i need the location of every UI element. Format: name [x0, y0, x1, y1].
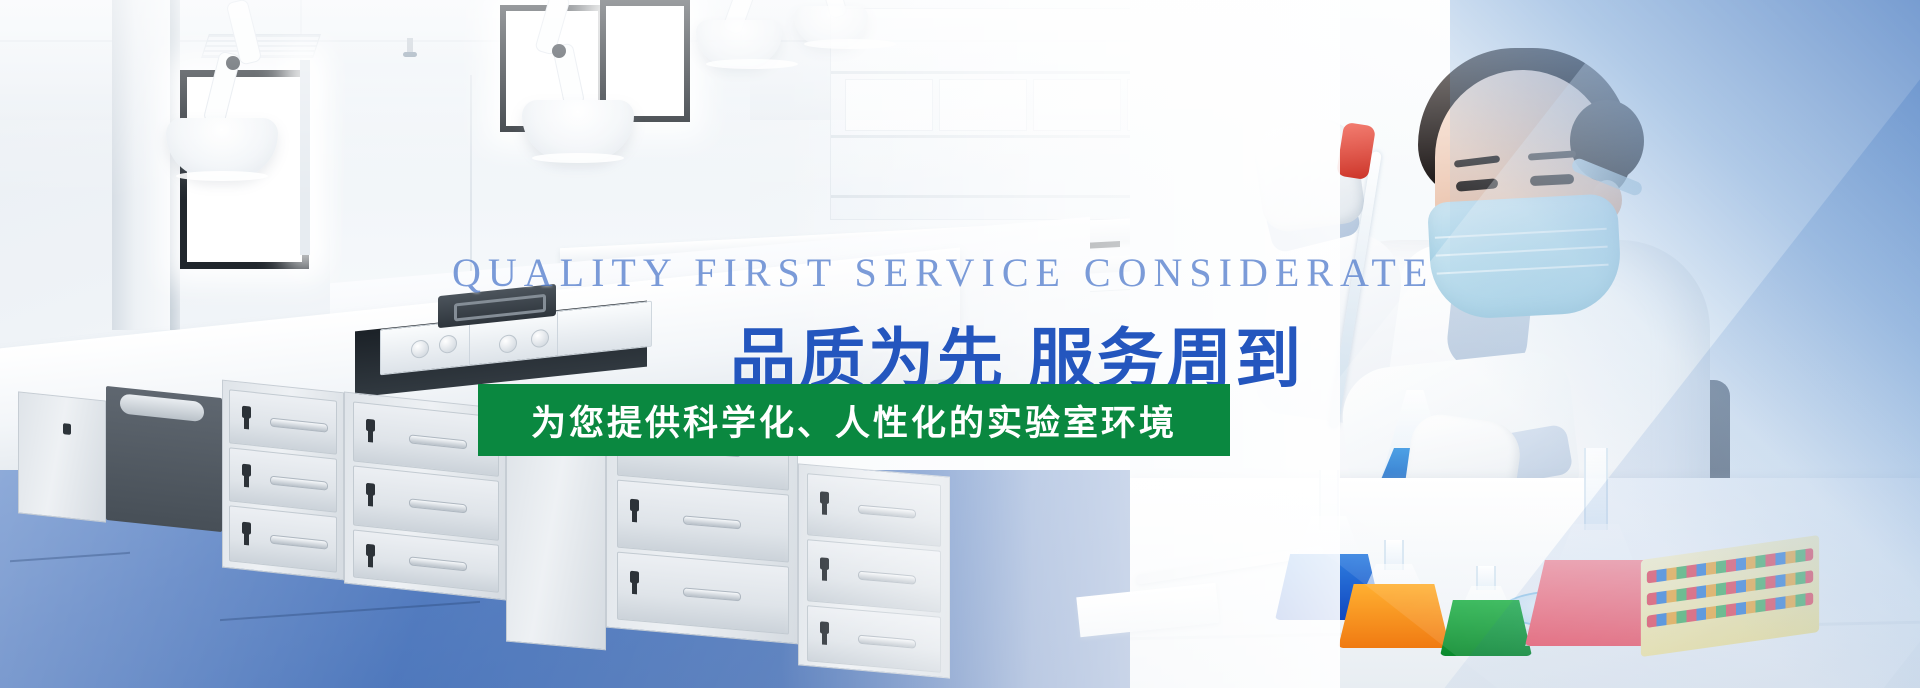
outlet-divider	[557, 312, 558, 356]
outlet-knob[interactable]	[531, 329, 549, 349]
lamp-joint	[552, 44, 566, 58]
drawer[interactable]	[229, 447, 337, 512]
drawer-handle[interactable]	[409, 434, 467, 449]
drawer-cabinet	[798, 463, 950, 678]
lamp-joint	[226, 56, 240, 70]
hero-banner: QUALITY FIRST SERVICE CONSIDERATE 品质为先服务…	[0, 0, 1920, 688]
drawer-lock-icon	[820, 491, 829, 504]
shelf-cell	[845, 79, 933, 131]
drawer-lock-icon	[630, 499, 639, 512]
drawer[interactable]	[229, 505, 337, 572]
drawer[interactable]	[353, 465, 499, 540]
waste-bin	[106, 386, 222, 532]
drawer[interactable]	[617, 552, 789, 635]
flask-liquid	[1440, 600, 1532, 656]
drawer-handle[interactable]	[858, 571, 916, 585]
drawer-handle[interactable]	[858, 505, 916, 519]
drawer[interactable]	[807, 605, 941, 673]
drawer-handle[interactable]	[858, 634, 916, 648]
outlet-knob[interactable]	[499, 334, 517, 354]
drawer-lock-icon	[366, 419, 375, 432]
subtitle-bar: 为您提供科学化、人性化的实验室环境	[478, 384, 1230, 456]
flask-liquid	[1338, 584, 1450, 648]
erlenmeyer-flask-green	[1440, 566, 1532, 656]
outlet-knob[interactable]	[439, 334, 457, 354]
drawer-cabinet	[222, 380, 344, 581]
drawer-lock-icon	[630, 571, 639, 584]
cabinet-panel	[506, 428, 606, 651]
erlenmeyer-flask-orange	[1338, 540, 1450, 648]
surgical-mask	[1427, 193, 1623, 321]
drawer-lock-icon	[242, 463, 251, 476]
drawer[interactable]	[229, 389, 337, 454]
drawer-lock-icon	[366, 483, 375, 496]
drawer-lock-icon	[820, 557, 829, 570]
mask-pleat	[1435, 228, 1607, 239]
mask-pleat	[1436, 246, 1608, 257]
drawer-handle[interactable]	[409, 557, 467, 572]
shelf-cell	[1033, 79, 1121, 131]
drawer[interactable]	[353, 529, 499, 592]
drawer-handle[interactable]	[409, 498, 467, 513]
drawer[interactable]	[807, 473, 941, 547]
structural-column	[112, 0, 170, 330]
cabinet-lock-icon	[63, 423, 71, 435]
drawer-handle[interactable]	[270, 534, 328, 549]
shelf-cell	[939, 79, 1027, 131]
flask-neck	[1584, 448, 1608, 530]
drawer-handle[interactable]	[683, 515, 741, 529]
lamp-shade	[696, 20, 782, 66]
drawer-lock-icon	[820, 621, 829, 634]
sprinkler-head	[407, 38, 413, 54]
cabinet-end	[18, 391, 106, 522]
english-tagline: QUALITY FIRST SERVICE CONSIDERATE	[452, 249, 1434, 296]
drawer-lock-icon	[366, 544, 375, 557]
drawer-handle[interactable]	[270, 418, 328, 433]
drawer[interactable]	[617, 480, 789, 563]
drawer[interactable]	[807, 539, 941, 613]
drawer-handle[interactable]	[683, 587, 741, 601]
window-mullion	[300, 60, 310, 255]
outlet-divider	[469, 321, 470, 365]
lamp-shade	[794, 6, 868, 46]
drawer-lock-icon	[242, 405, 251, 418]
drawer-lock-icon	[242, 522, 251, 535]
drawer-handle[interactable]	[270, 476, 328, 491]
outlet-knob[interactable]	[411, 339, 429, 359]
mask-pleat	[1437, 264, 1609, 275]
subtitle-text: 为您提供科学化、人性化的实验室环境	[531, 395, 1177, 446]
bin-lid	[120, 393, 204, 422]
